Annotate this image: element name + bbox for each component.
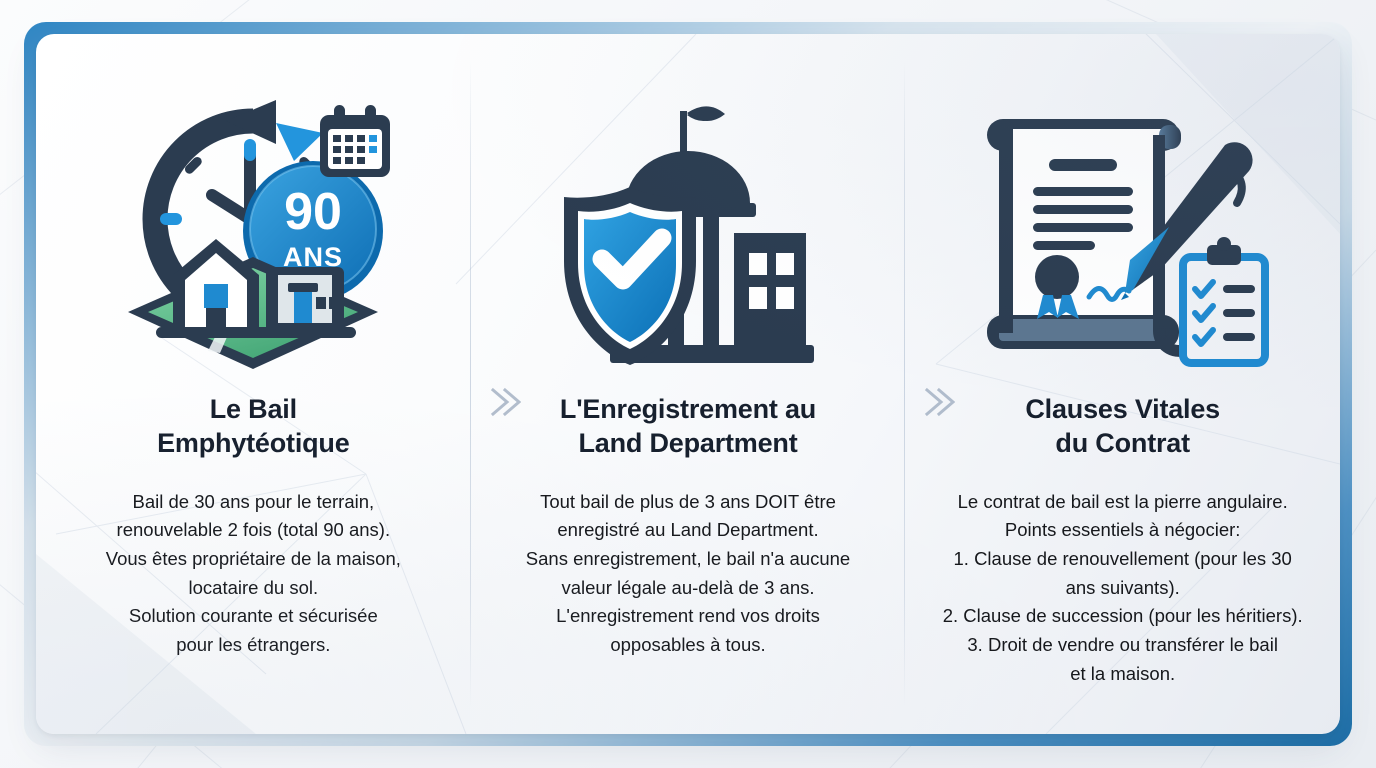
contract-scroll	[987, 119, 1185, 351]
contract-signature-icon	[923, 90, 1322, 390]
panel-title: Le Bail Emphytéotique	[157, 392, 349, 461]
checklist-clipboard	[1183, 237, 1265, 363]
panel-title: L'Enregistrement au Land Department	[560, 392, 816, 461]
panel-container: 90 ANS	[36, 34, 1340, 734]
infographic-root: 90 ANS	[0, 0, 1376, 768]
svg-text:90: 90	[284, 183, 342, 241]
panel-bail-emphyteotique: 90 ANS	[36, 34, 471, 734]
government-shield-icon	[489, 90, 888, 390]
panel-body: Le contrat de bail est la pierre angulai…	[943, 488, 1303, 689]
content-card: 90 ANS	[36, 34, 1340, 734]
panel-title: Clauses Vitales du Contrat	[1025, 392, 1220, 461]
panel-body: Tout bail de plus de 3 ans DOIT être enr…	[526, 488, 850, 660]
panel-body: Bail de 30 ans pour le terrain, renouvel…	[106, 488, 401, 660]
lease-renewal-house-icon: 90 ANS	[54, 90, 453, 390]
panel-clauses-vitales-contrat: Clauses Vitales du Contrat Le contrat de…	[905, 34, 1340, 734]
panel-enregistrement-land-department: L'Enregistrement au Land Department Tout…	[471, 34, 906, 734]
calendar-icon	[320, 105, 390, 177]
